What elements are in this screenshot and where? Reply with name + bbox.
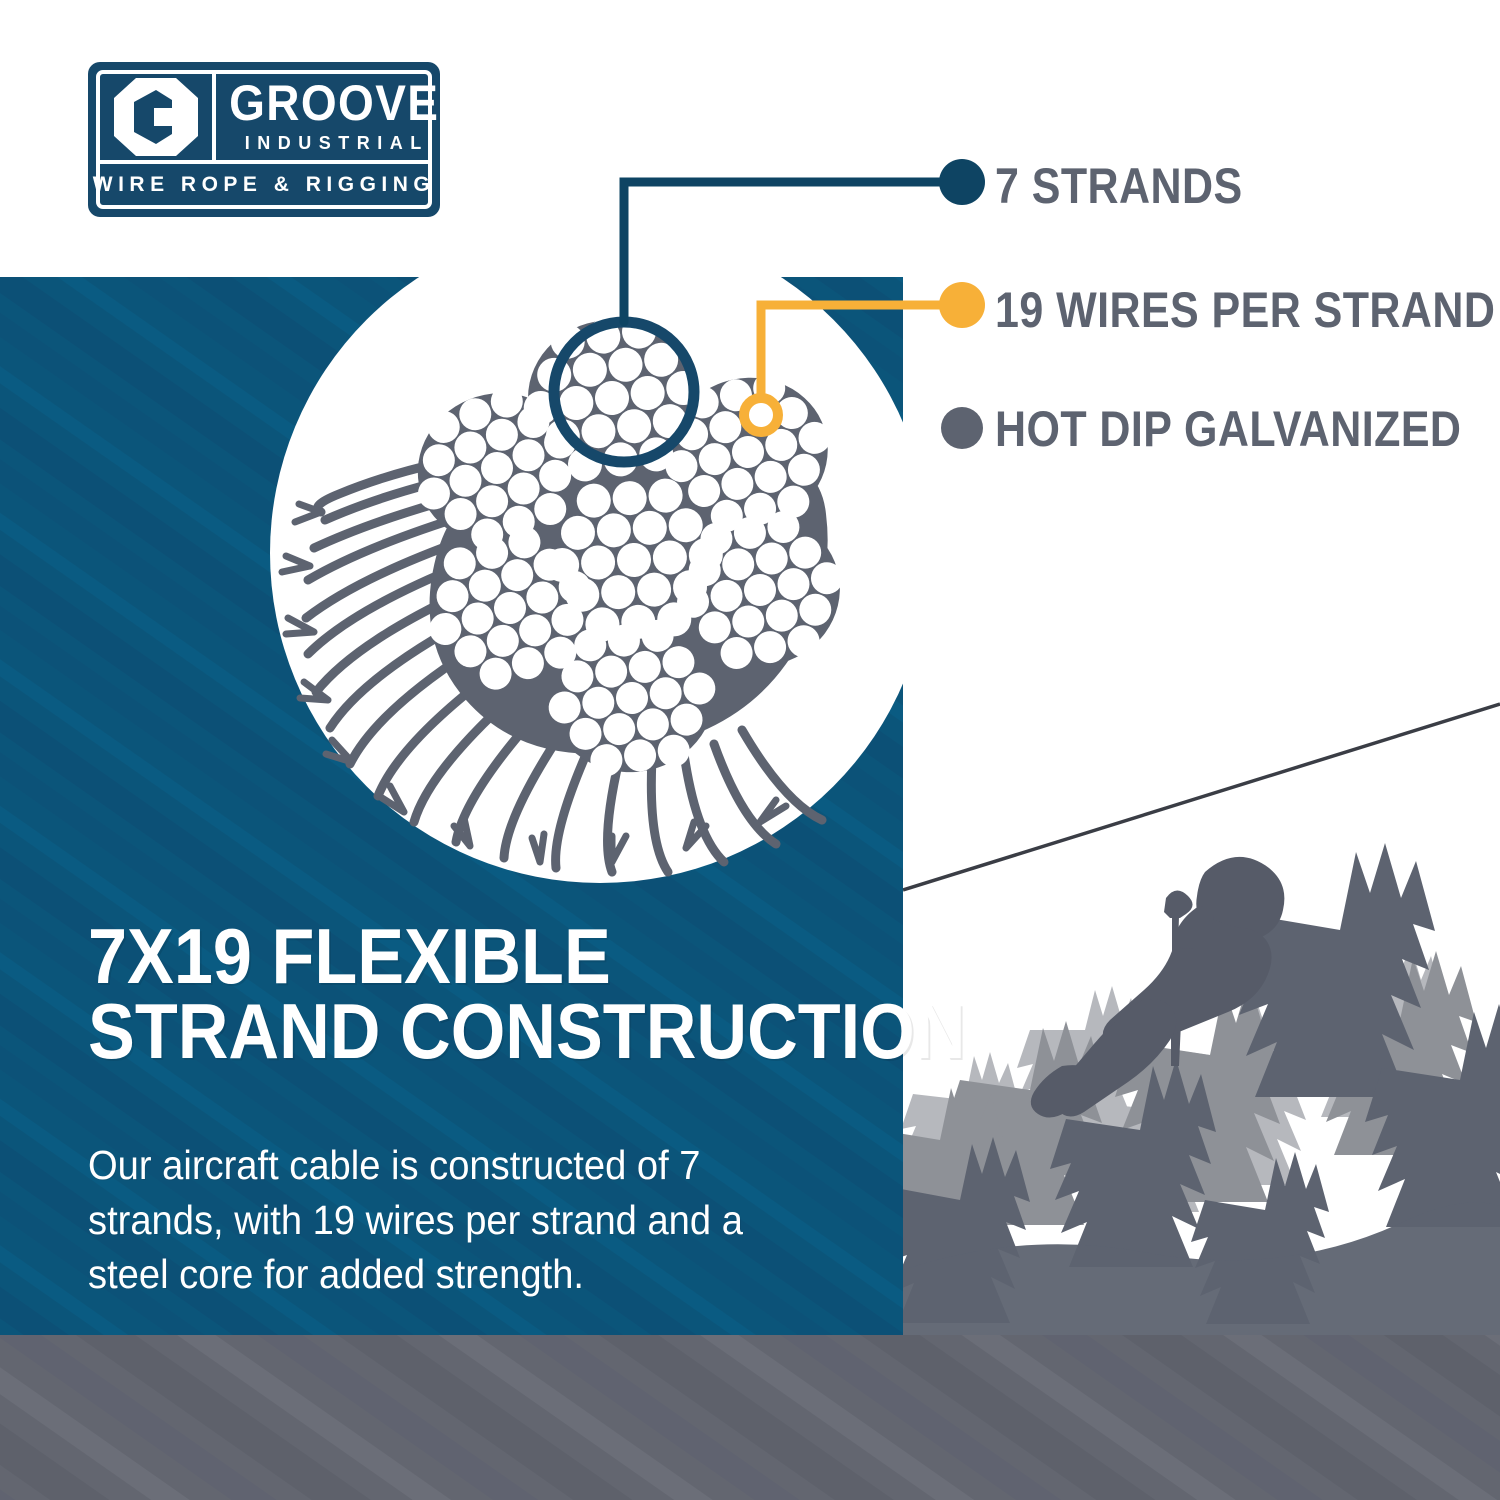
logo-tagline-row: WIRE ROPE & RIGGING xyxy=(100,164,428,205)
callout-label-galvanized: HOT DIP GALVANIZED xyxy=(995,400,1461,458)
logo-inner-frame: GROOVE INDUSTRIAL WIRE ROPE & RIGGING xyxy=(96,70,432,209)
groove-g-icon xyxy=(112,76,200,158)
body-paragraph: Our aircraft cable is constructed of 7 s… xyxy=(88,1138,795,1302)
logo-tagline: WIRE ROPE & RIGGING xyxy=(93,173,436,197)
wire-highlight-ring xyxy=(744,398,778,432)
callout-dot-strands xyxy=(939,159,985,205)
brand-logo[interactable]: GROOVE INDUSTRIAL WIRE ROPE & RIGGING xyxy=(88,62,440,217)
footer-band xyxy=(0,1335,1500,1500)
logo-wordmark: GROOVE INDUSTRIAL xyxy=(216,74,448,160)
page-title: 7X19 FLEXIBLE STRAND CONSTRUCTION xyxy=(88,919,965,1069)
callout-dot-galvanized xyxy=(941,407,983,449)
callout-dot-wires xyxy=(939,282,985,328)
infographic-canvas: GROOVE INDUSTRIAL WIRE ROPE & RIGGING 7 … xyxy=(0,0,1500,1500)
logo-subname: INDUSTRIAL xyxy=(239,133,429,154)
logo-top-row: GROOVE INDUSTRIAL xyxy=(100,74,428,164)
callout-label-wires: 19 WIRES PER STRAND xyxy=(995,281,1495,339)
logo-monogram-cell xyxy=(100,74,216,160)
logo-name: GROOVE xyxy=(229,80,439,128)
callout-label-strands: 7 STRANDS xyxy=(995,157,1243,215)
